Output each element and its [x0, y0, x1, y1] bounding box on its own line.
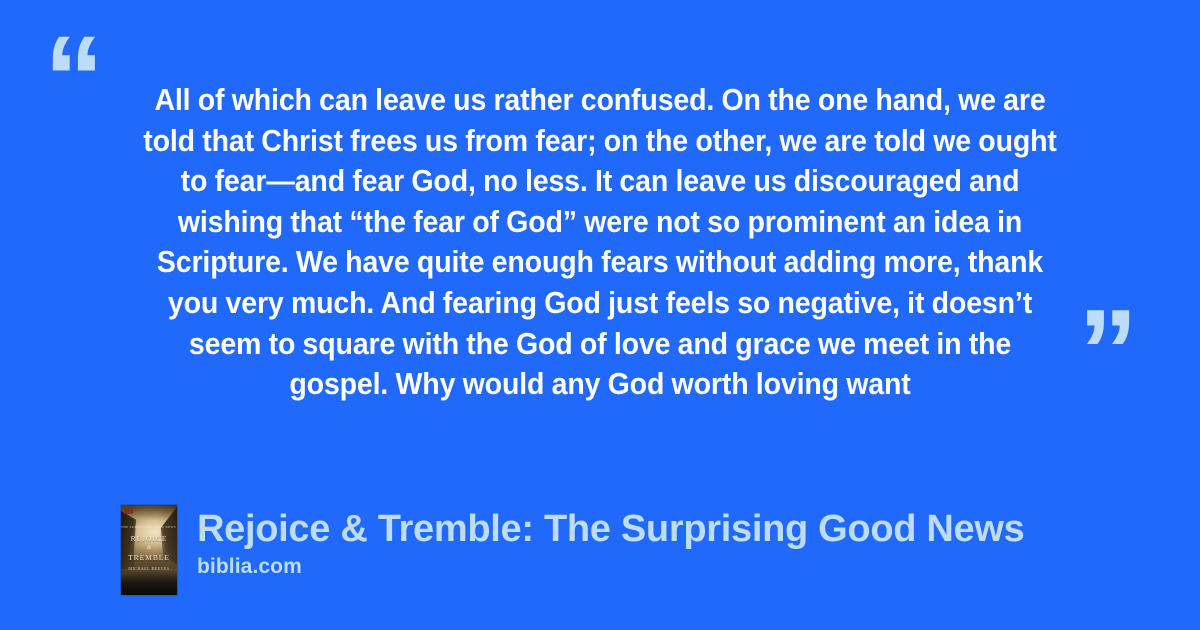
opening-quote-icon: “	[44, 18, 102, 138]
book-cover-thumbnail: THE SURPRISING GOOD NEWS OF REJOICE & TR…	[121, 505, 177, 595]
quote-text: All of which can leave us rather confuse…	[136, 80, 1064, 405]
cover-title-line2: TREMBLE	[121, 553, 177, 562]
quote-card: “ All of which can leave us rather confu…	[0, 0, 1200, 630]
footer-attribution: THE SURPRISING GOOD NEWS OF REJOICE & TR…	[121, 505, 1181, 600]
footer-text-group: Rejoice & Tremble: The Surprising Good N…	[177, 505, 1181, 579]
cover-top-label: THE SURPRISING GOOD NEWS OF	[121, 525, 177, 529]
closing-quote-icon: ”	[1078, 292, 1136, 412]
site-name: biblia.com	[197, 555, 1181, 579]
quote-block: “ All of which can leave us rather confu…	[0, 0, 1200, 470]
book-title: Rejoice & Tremble: The Surprising Good N…	[197, 507, 1181, 551]
cover-publisher-badge-icon	[124, 508, 133, 514]
cover-art-water	[121, 569, 177, 595]
cover-author: MICHAEL REEVES	[121, 566, 177, 571]
cover-ampersand: &	[121, 545, 177, 551]
cover-title-line1: REJOICE	[121, 534, 177, 544]
